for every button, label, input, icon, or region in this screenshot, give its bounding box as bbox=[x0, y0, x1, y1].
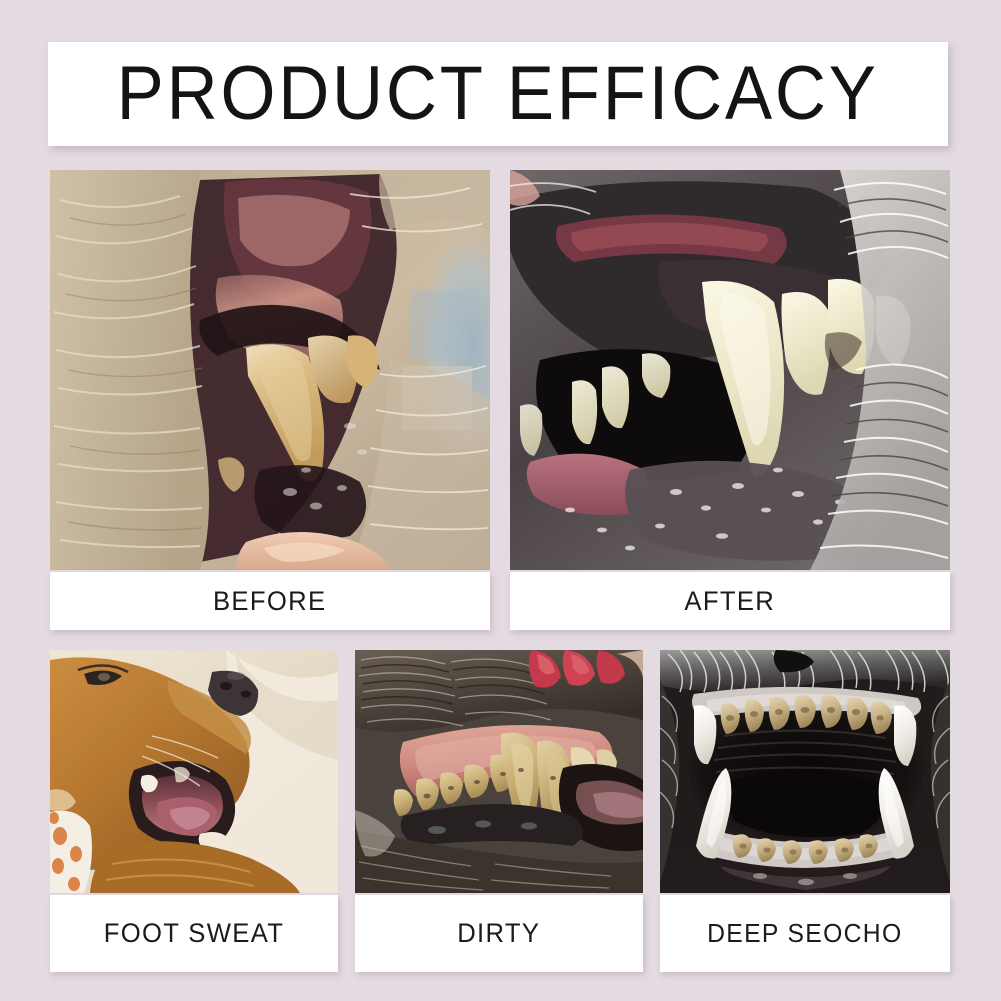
foot-sweat-photo bbox=[50, 650, 338, 893]
before-photo bbox=[50, 170, 490, 570]
caption-before: BEFORE bbox=[50, 572, 490, 630]
caption-after: AFTER bbox=[510, 572, 950, 630]
after-photo bbox=[510, 170, 950, 570]
deep-seocho-photo bbox=[660, 650, 950, 893]
caption-dirty-label: DIRTY bbox=[457, 918, 540, 949]
caption-before-label: BEFORE bbox=[213, 586, 326, 617]
caption-after-label: AFTER bbox=[685, 586, 776, 617]
caption-foot-sweat: FOOT SWEAT bbox=[50, 895, 338, 972]
caption-dirty: DIRTY bbox=[355, 895, 643, 972]
caption-foot-sweat-label: FOOT SWEAT bbox=[104, 918, 285, 949]
page-title: PRODUCT EFFICACY bbox=[117, 56, 879, 132]
caption-deep-seocho-label: DEEP SEOCHO bbox=[707, 918, 902, 949]
dirty-photo bbox=[355, 650, 643, 893]
title-banner: PRODUCT EFFICACY bbox=[48, 42, 948, 146]
caption-deep-seocho: DEEP SEOCHO bbox=[660, 895, 950, 972]
